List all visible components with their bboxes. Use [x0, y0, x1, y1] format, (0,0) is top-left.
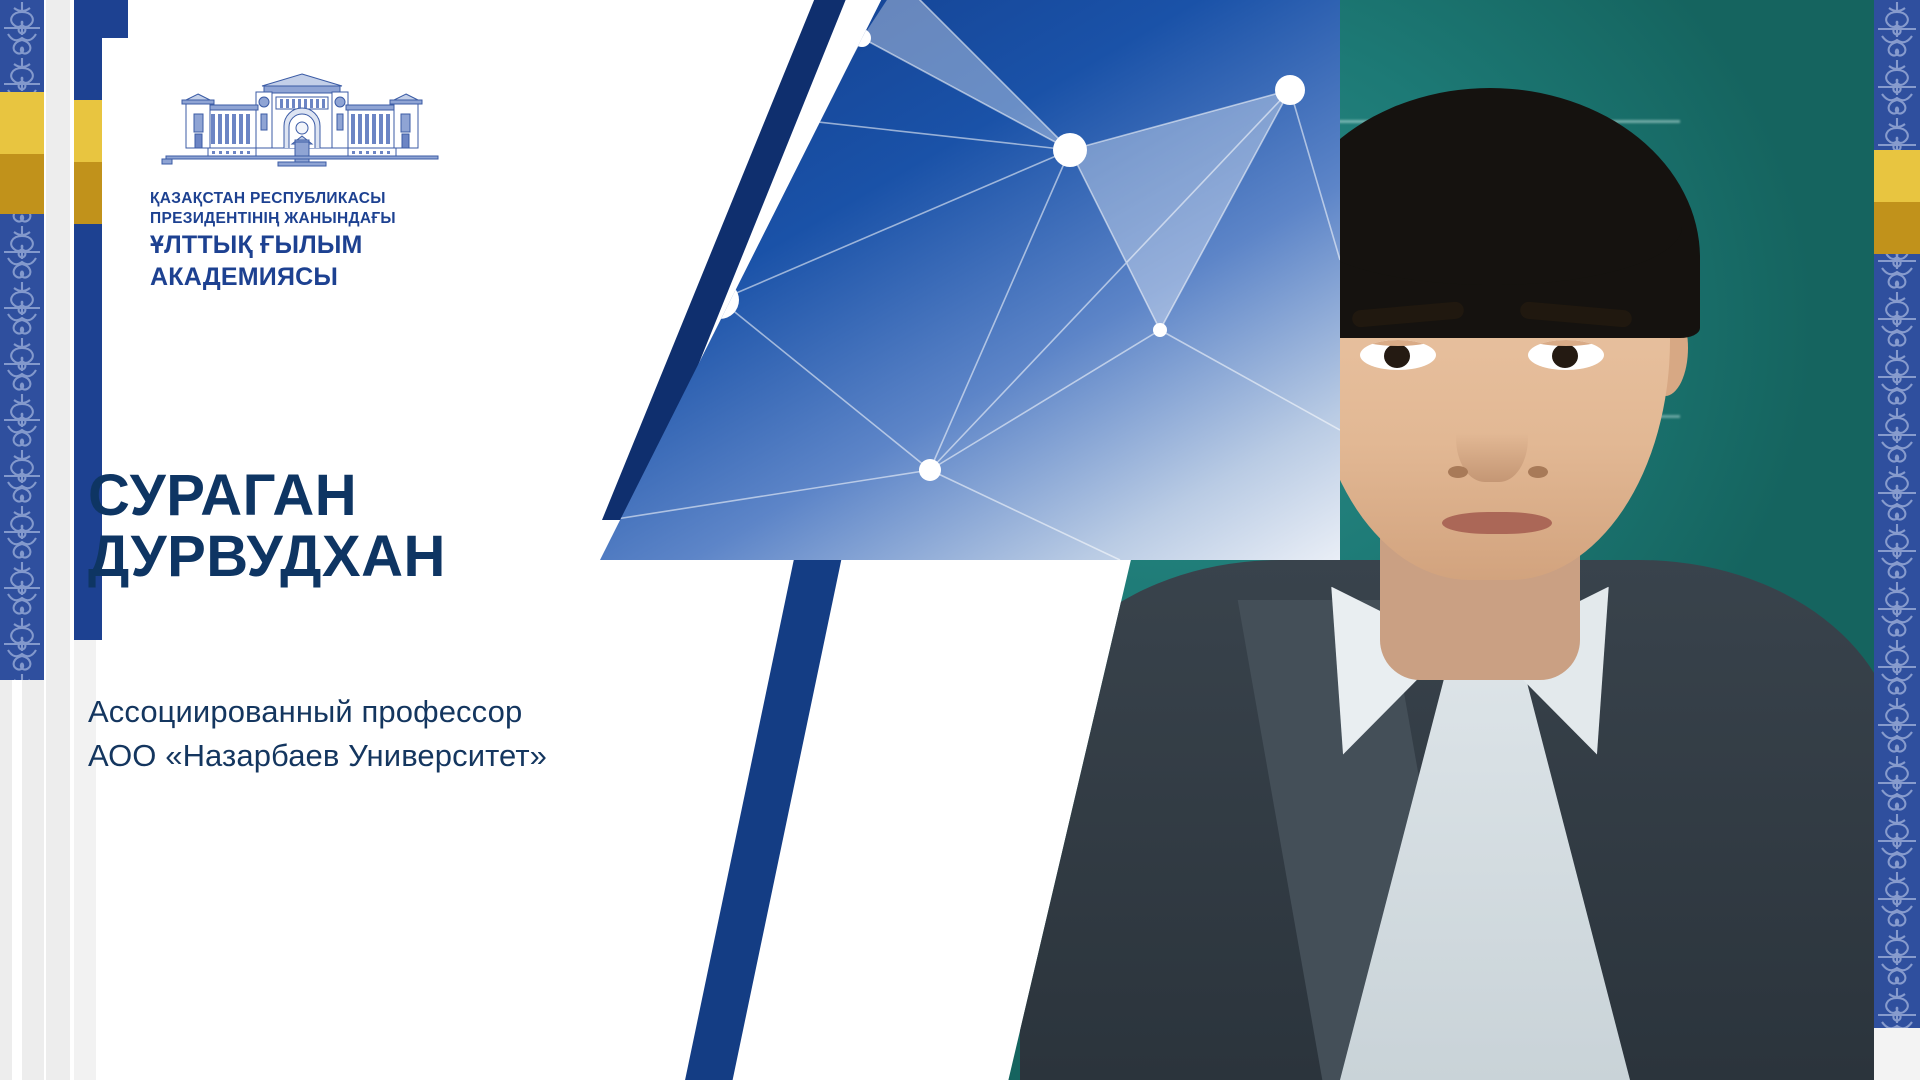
- nostril: [1528, 466, 1548, 478]
- nostril: [1448, 466, 1468, 478]
- person-given-name: ДУРВУДХАН: [88, 526, 446, 587]
- eyelid: [1528, 340, 1604, 346]
- eye: [1528, 340, 1604, 370]
- person-role-line-1: Ассоциированный профессор: [88, 690, 547, 734]
- person-role-line-2: АОО «Назарбаев Университет»: [88, 734, 547, 778]
- pupil: [1552, 344, 1578, 368]
- logo-line-2: ПРЕЗИДЕНТІНІҢ ЖАНЫНДАҒЫ: [150, 209, 500, 229]
- chalk-mark: ⌒: [870, 560, 952, 679]
- academy-building-icon: [152, 70, 452, 175]
- logo-line-4: АКАДЕМИЯСЫ: [150, 261, 500, 294]
- pupil: [1384, 344, 1410, 368]
- institution-logo: ҚАЗАҚСТАН РЕСПУБЛИКАСЫ ПРЕЗИДЕНТІНІҢ ЖАН…: [150, 70, 500, 294]
- logo-line-1: ҚАЗАҚСТАН РЕСПУБЛИКАСЫ: [150, 189, 500, 209]
- person-affiliation: Ассоциированный профессор АОО «Назарбаев…: [88, 690, 547, 778]
- chalk-mark: ⌣: [980, 690, 1026, 770]
- logo-line-3: ҰЛТТЫҚ ҒЫЛЫМ: [150, 229, 500, 262]
- gold-band: [1874, 202, 1920, 254]
- person-surname: СУРАГАН: [88, 465, 446, 526]
- hair: [1280, 88, 1700, 338]
- institution-logo-text: ҚАЗАҚСТАН РЕСПУБЛИКАСЫ ПРЕЗИДЕНТІНІҢ ЖАН…: [150, 189, 500, 294]
- nose: [1456, 372, 1528, 482]
- eyelid: [1360, 340, 1436, 346]
- ornament-strip-tail: [1874, 1028, 1920, 1080]
- eye: [1360, 340, 1436, 370]
- gold-band: [1874, 150, 1920, 202]
- presentation-slide: ᒥ Ɩ э е-! ∫ (x) = u 1ㄒ F 3 3 ⌒ ⌣: [0, 0, 1920, 1080]
- mouth: [1442, 512, 1552, 534]
- left-content-area: ҚАЗАҚСТАН РЕСПУБЛИКАСЫ ПРЕЗИДЕНТІНІҢ ЖАН…: [0, 0, 760, 1080]
- page-title: СУРАГАН ДУРВУДХАН: [88, 465, 446, 588]
